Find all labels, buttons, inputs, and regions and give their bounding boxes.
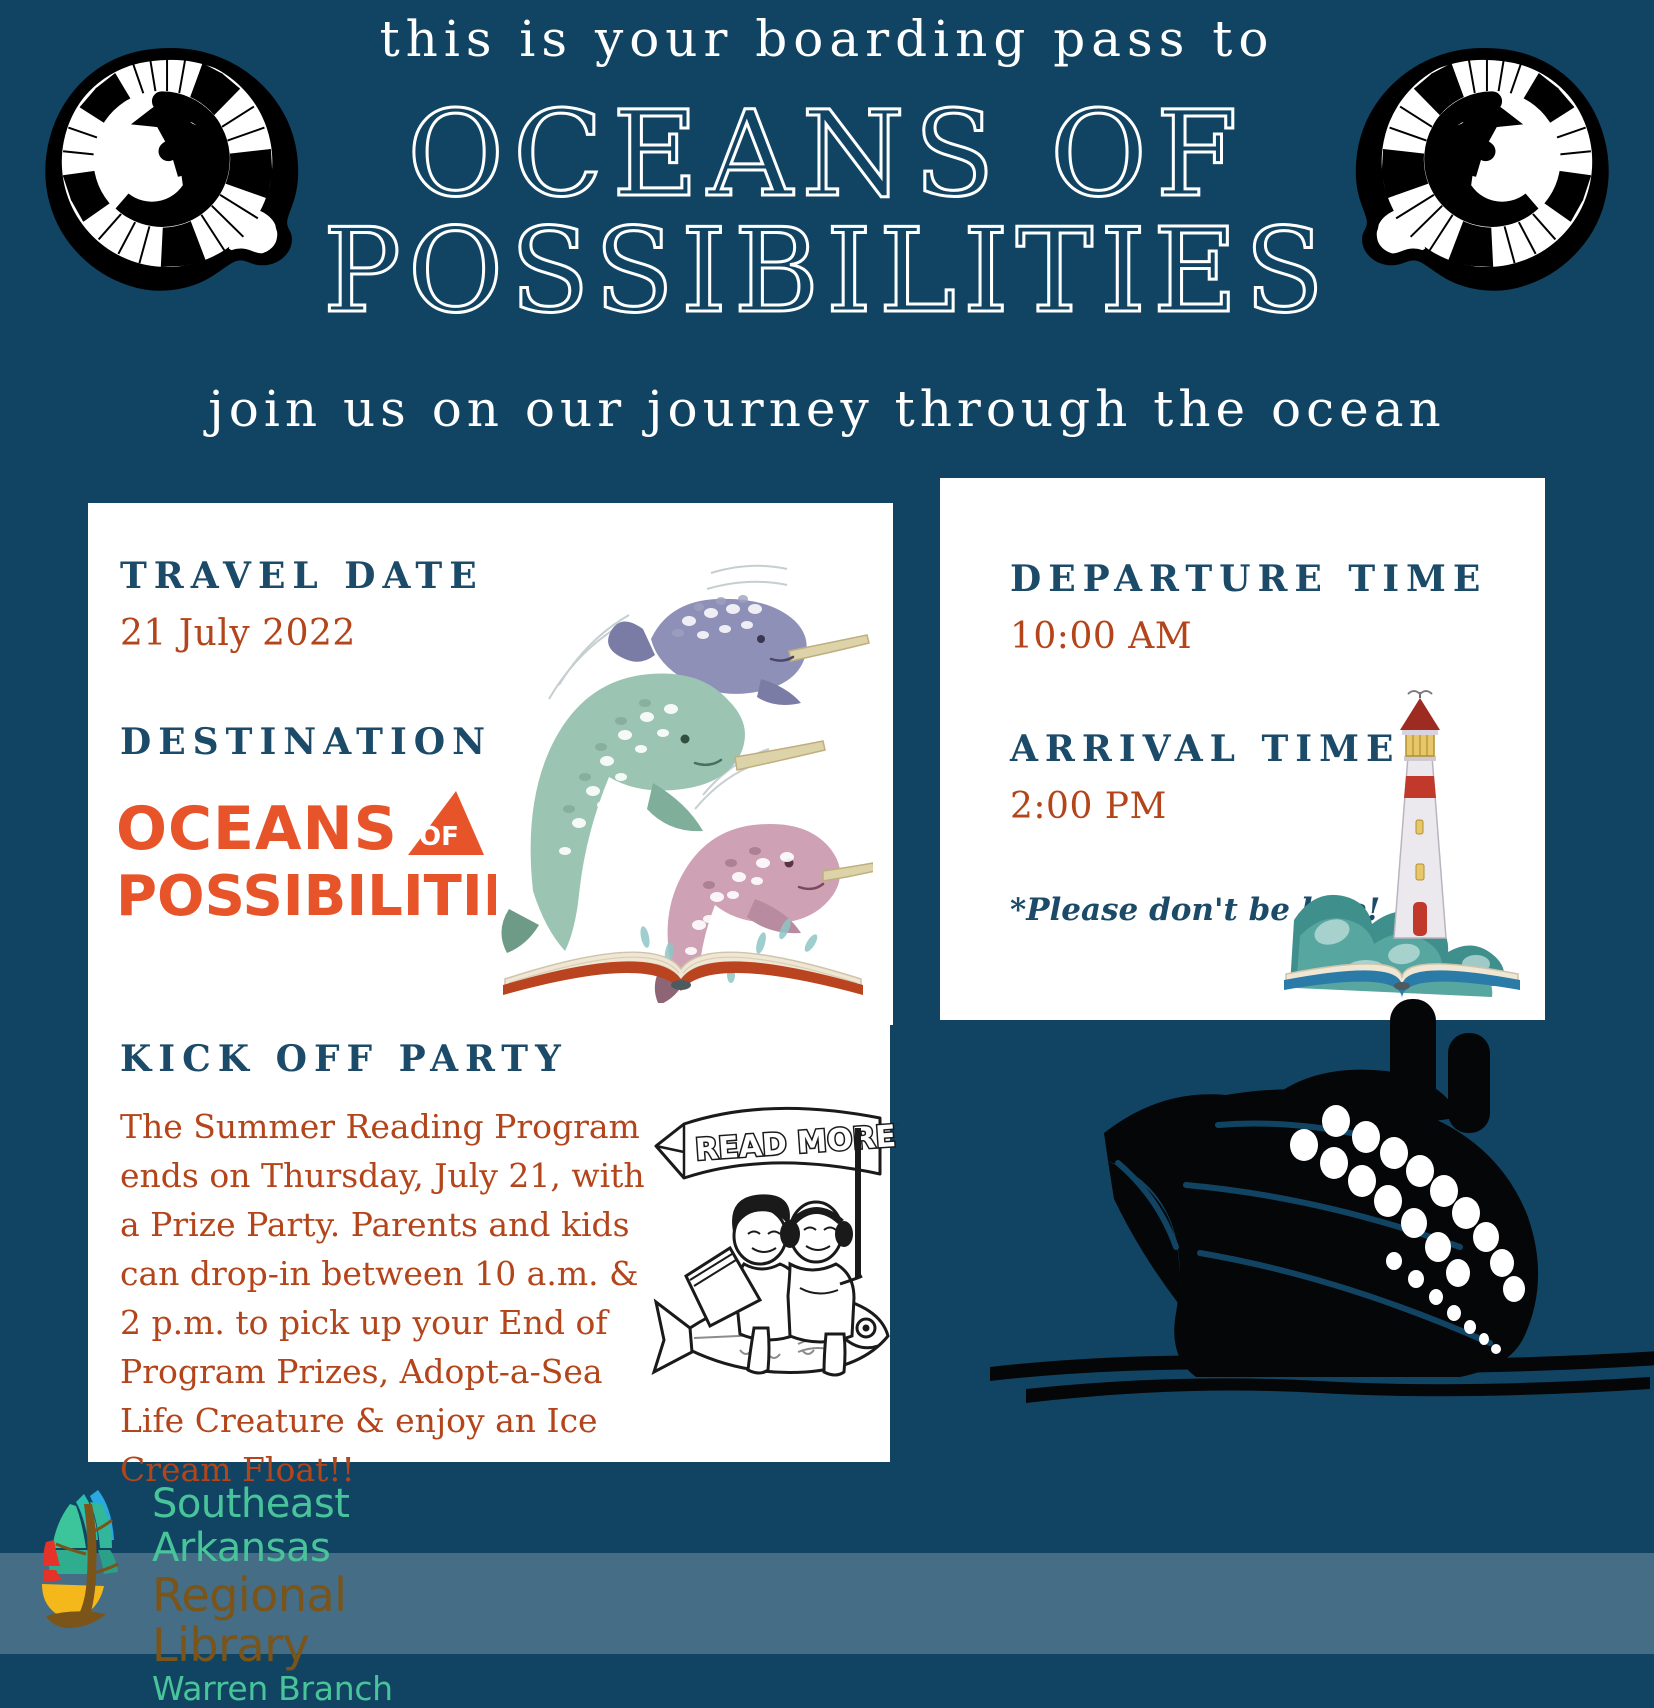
title-line-2: POSSIBILITIES (0, 213, 1654, 331)
read-more-kids-on-fish-illustration: READ MORE! (648, 1088, 898, 1388)
kick-off-party-label: KICK OFF PARTY (120, 1038, 568, 1080)
kick-off-party-card: KICK OFF PARTY The Summer Reading Progra… (88, 1010, 890, 1462)
tagline-top: this is your boarding pass to (0, 10, 1654, 68)
departure-time-label: DEPARTURE TIME (1010, 558, 1487, 600)
destination-label: DESTINATION (120, 721, 492, 763)
departure-time-value: 10:00 AM (1010, 616, 1192, 657)
tagline-bottom: join us on our journey through the ocean (0, 380, 1654, 438)
travel-date-value: 21 July 2022 (120, 613, 356, 654)
kick-off-party-body: The Summer Reading Program ends on Thurs… (120, 1102, 645, 1494)
oceans-of-possibilities-logo: OCEANS OF POSSIBILITIES (116, 787, 496, 927)
lighthouse-on-book-illustration (1280, 688, 1525, 1008)
logo-line-2: Regional Library (152, 1570, 470, 1670)
poster-header: this is your boarding pass to OCEANS OF … (0, 0, 1654, 470)
travel-date-card: TRAVEL DATE 21 July 2022 DESTINATION OCE… (88, 503, 893, 1025)
library-logo: Southeast Arkansas Regional Library Warr… (40, 1468, 470, 1654)
logo-possibilities-text: POSSIBILITIES (116, 864, 496, 927)
logo-line-3: Warren Branch (152, 1670, 470, 1708)
title-line-1: OCEANS OF (0, 95, 1654, 213)
narwhals-on-book-illustration (493, 533, 873, 1003)
logo-line-1: Southeast Arkansas (152, 1482, 470, 1570)
times-card: DEPARTURE TIME 10:00 AM ARRIVAL TIME 2:0… (940, 478, 1545, 1020)
library-tree-logo-icon (40, 1478, 150, 1628)
page-title: OCEANS OF POSSIBILITIES (0, 95, 1654, 331)
travel-date-label: TRAVEL DATE (120, 555, 484, 597)
logo-of-badge: OF (419, 822, 459, 852)
cruise-ship-silhouette-icon (990, 985, 1654, 1415)
logo-oceans-text: OCEANS (116, 794, 398, 864)
arrival-time-value: 2:00 PM (1010, 786, 1167, 827)
